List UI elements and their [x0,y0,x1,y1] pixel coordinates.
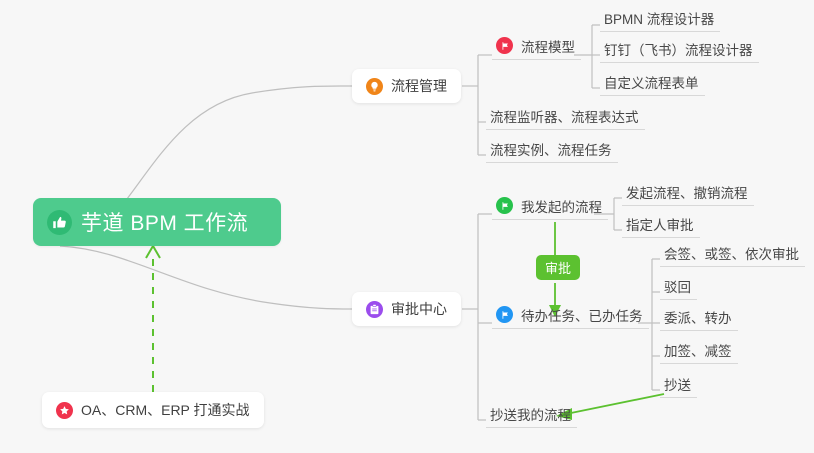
node-label-start-cancel-process: 发起流程、撤销流程 [626,182,748,202]
node-label-bpmn-designer: BPMN 流程设计器 [604,8,714,28]
flag-icon [496,306,513,323]
annotation-integration-note[interactable]: OA、CRM、ERP 打通实战 [42,392,264,428]
node-label-add-remove-sign: 加签、减签 [664,340,732,360]
lightbulb-icon [366,78,383,95]
node-my-initiated-process[interactable]: 我发起的流程 [492,196,608,220]
branch-node-process-management[interactable]: 流程管理 [352,69,461,103]
branch-label-process-management: 流程管理 [391,76,447,96]
node-label-todo-done-tasks: 待办任务、已办任务 [521,305,643,325]
thumbs-up-icon [47,210,72,235]
root-label: 芋道 BPM 工作流 [81,207,248,237]
flag-icon [496,197,513,214]
branch-label-approval-center: 审批中心 [391,299,447,319]
node-add-remove-sign[interactable]: 加签、减签 [660,340,738,364]
node-bpmn-designer[interactable]: BPMN 流程设计器 [600,8,720,32]
branch-node-approval-center[interactable]: 审批中心 [352,292,461,326]
node-assignee-approval[interactable]: 指定人审批 [622,214,700,238]
node-delegate-transfer[interactable]: 委派、转办 [660,307,738,331]
flag-icon [496,37,513,54]
node-start-cancel-process[interactable]: 发起流程、撤销流程 [622,182,754,206]
node-label-cc-to-me-process: 抄送我的流程 [490,404,571,424]
node-reject[interactable]: 驳回 [660,276,697,300]
node-label-custom-process-form: 自定义流程表单 [604,72,699,92]
arrowhead-integration-to-root [146,246,160,258]
node-label-delegate-transfer: 委派、转办 [664,307,732,327]
node-label-reject: 驳回 [664,276,691,296]
mindmap-canvas: 芋道 BPM 工作流 流程管理 流程模型 BPMN 流程设计器 钉钉（飞书）流程… [0,0,814,453]
node-label-process-model: 流程模型 [521,36,575,56]
node-label-process-instance-task: 流程实例、流程任务 [490,139,612,159]
node-cc[interactable]: 抄送 [660,374,697,398]
arrow-cc-to-ccme [566,394,664,414]
annotation-approval-tag-label: 审批 [545,258,571,277]
annotation-approval-tag[interactable]: 审批 [536,255,580,280]
node-process-instance-task[interactable]: 流程实例、流程任务 [486,139,618,163]
node-dingtalk-feishu-designer[interactable]: 钉钉（飞书）流程设计器 [600,39,759,63]
node-label-cc: 抄送 [664,374,691,394]
node-multi-sign-or-sign-sequential[interactable]: 会签、或签、依次审批 [660,243,805,267]
node-process-model[interactable]: 流程模型 [492,36,581,60]
node-process-listener-expression[interactable]: 流程监听器、流程表达式 [486,106,645,130]
root-node[interactable]: 芋道 BPM 工作流 [33,198,281,246]
node-label-process-listener-expression: 流程监听器、流程表达式 [490,106,639,126]
node-custom-process-form[interactable]: 自定义流程表单 [600,72,705,96]
node-todo-done-tasks[interactable]: 待办任务、已办任务 [492,305,649,329]
node-cc-to-me-process[interactable]: 抄送我的流程 [486,404,577,428]
annotation-integration-note-label: OA、CRM、ERP 打通实战 [81,400,250,420]
node-label-multi-sign-or-sign-sequential: 会签、或签、依次审批 [664,243,799,263]
clipboard-icon [366,301,383,318]
star-icon [56,402,73,419]
node-label-my-initiated-process: 我发起的流程 [521,196,602,216]
node-label-dingtalk-feishu-designer: 钉钉（飞书）流程设计器 [604,39,753,59]
node-label-assignee-approval: 指定人审批 [626,214,694,234]
edge-root-to-approval-center [60,246,352,309]
